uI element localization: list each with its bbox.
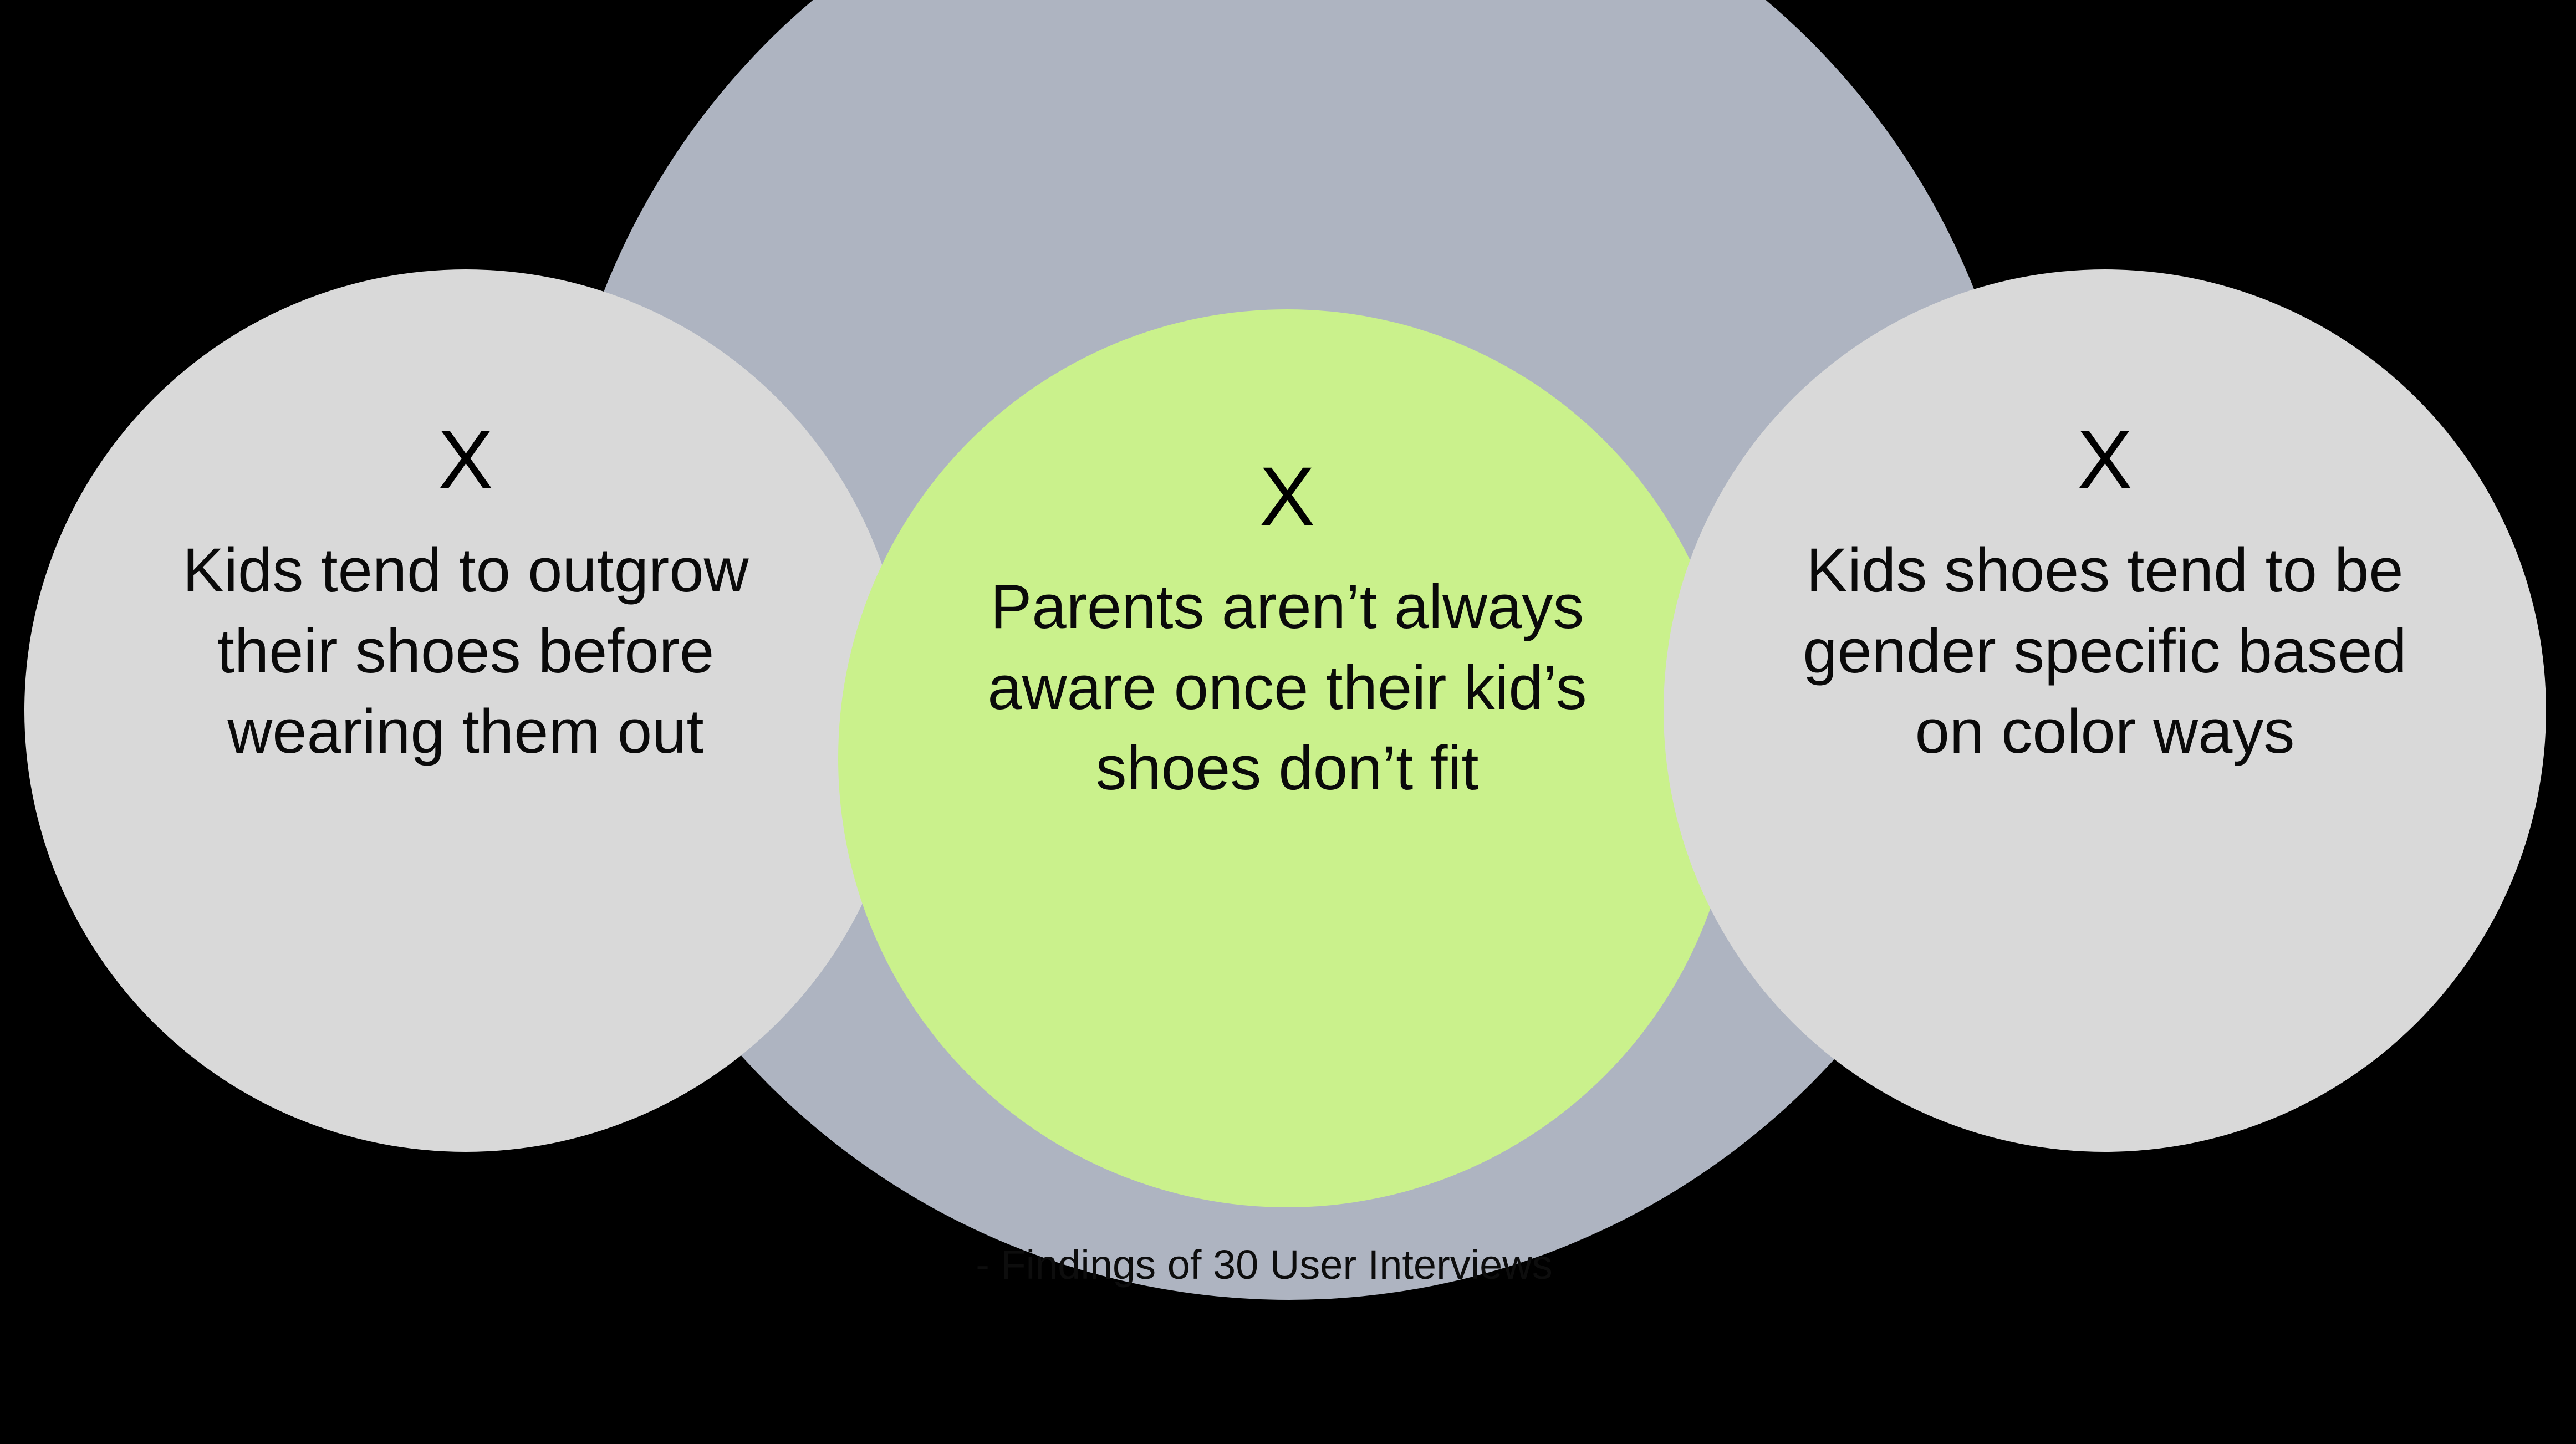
- finding-circle-center[interactable]: X Parents aren’t always aware once their…: [838, 309, 1736, 1207]
- finding-circle-right[interactable]: X Kids shoes tend to be gender specific …: [1664, 269, 2546, 1152]
- x-marker-icon: X: [1259, 455, 1315, 538]
- x-marker-icon: X: [438, 418, 493, 501]
- x-marker-icon: X: [2077, 418, 2133, 501]
- source-caption: - Findings of 30 User Interviews: [0, 1241, 2552, 1290]
- finding-text-right: Kids shoes tend to be gender specific ba…: [1803, 530, 2407, 772]
- finding-text-center: Parents aren’t always aware once their k…: [987, 567, 1587, 809]
- finding-text-left: Kids tend to outgrow their shoes before …: [182, 530, 748, 772]
- slide-canvas: X Kids tend to outgrow their shoes befor…: [0, 0, 2576, 1444]
- finding-circle-left[interactable]: X Kids tend to outgrow their shoes befor…: [24, 269, 907, 1152]
